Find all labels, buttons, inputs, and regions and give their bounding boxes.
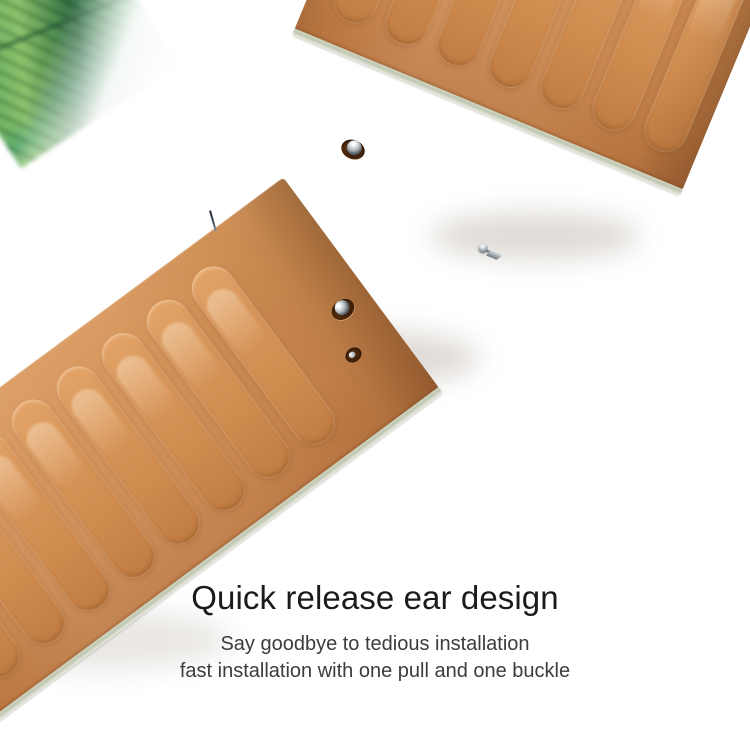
caption-subtitle-line-1: Say goodbye to tedious installation [0, 631, 750, 658]
caption-block: Quick release ear design Say goodbye to … [0, 578, 750, 685]
page-title: Quick release ear design [0, 578, 750, 618]
tropical-leaf-band [0, 0, 180, 168]
caption-subtitle: Say goodbye to tedious installation fast… [0, 631, 750, 685]
upper-strap-spring-bar[interactable] [479, 242, 504, 261]
leaf-edge-highlight [0, 0, 180, 168]
caption-subtitle-line-2: fast installation with one pull and one … [0, 658, 750, 685]
upper-strap-pin-hole[interactable] [338, 136, 367, 163]
second-pin-glint [348, 350, 357, 359]
spring-bar-tail [486, 251, 502, 260]
upper-strap[interactable] [294, 0, 750, 190]
upper-strap-chrome-ball-pin [344, 138, 364, 158]
product-image-stage: Quick release ear design Say goodbye to … [0, 0, 750, 750]
upper-strap-body [294, 0, 750, 190]
upper-strap-shadow [430, 212, 640, 260]
